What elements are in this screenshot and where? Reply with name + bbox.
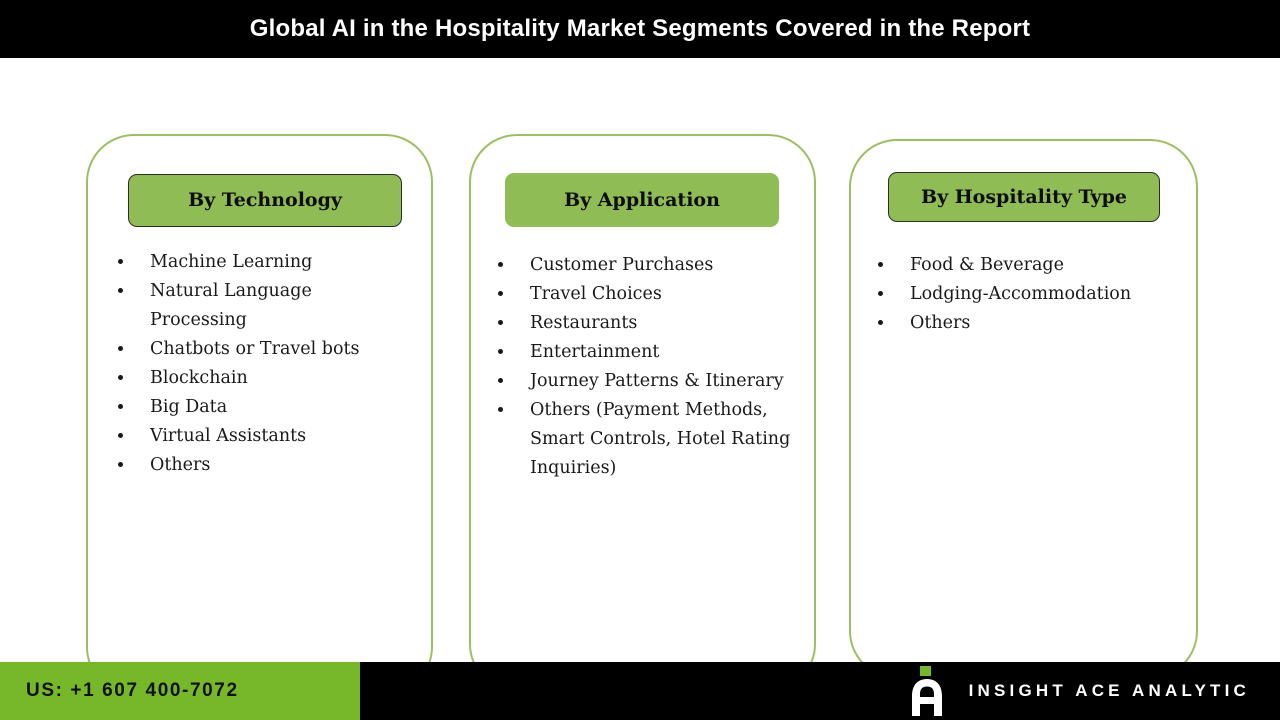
- list-item: Lodging-Accommodation: [872, 280, 1172, 309]
- bullet-dot-icon: [118, 462, 123, 467]
- list-item: Big Data: [112, 393, 412, 422]
- bullet-dot-icon: [118, 375, 123, 380]
- bullet-dot-icon: [498, 291, 503, 296]
- list-item: Others: [112, 451, 412, 480]
- segment-list-application: Customer Purchases Travel Choices Restau…: [492, 251, 792, 483]
- segment-list-hospitality-type: Food & Beverage Lodging-Accommodation Ot…: [872, 251, 1172, 338]
- list-item-label: Lodging-Accommodation: [910, 284, 1131, 304]
- list-item-label: Food & Beverage: [910, 255, 1064, 275]
- list-item: Virtual Assistants: [112, 422, 412, 451]
- list-item: Others: [872, 309, 1172, 338]
- list-item-label: Big Data: [150, 397, 227, 417]
- segment-list-technology: Machine Learning Natural Language Proces…: [112, 248, 412, 480]
- list-item-label: Others: [150, 455, 210, 475]
- list-item-label: Natural Language Processing: [150, 281, 312, 330]
- bullet-dot-icon: [118, 259, 123, 264]
- list-item: Entertainment: [492, 338, 792, 367]
- diagram-stage: By Technology Machine Learning Natural L…: [0, 58, 1280, 662]
- list-item-label: Chatbots or Travel bots: [150, 339, 360, 359]
- footer-phone: US: +1 607 400-7072: [26, 662, 239, 720]
- bullet-dot-icon: [878, 291, 883, 296]
- list-item: Customer Purchases: [492, 251, 792, 280]
- list-item: Others (Payment Methods, Smart Controls,…: [492, 396, 792, 483]
- page-title: Global AI in the Hospitality Market Segm…: [0, 0, 1280, 58]
- list-item-label: Entertainment: [530, 342, 659, 362]
- list-item: Food & Beverage: [872, 251, 1172, 280]
- list-item: Restaurants: [492, 309, 792, 338]
- list-item: Chatbots or Travel bots: [112, 335, 412, 364]
- bullet-dot-icon: [878, 320, 883, 325]
- list-item-label: Customer Purchases: [530, 255, 713, 275]
- brand-lockup: INSIGHT ACE ANALYTIC: [907, 662, 1250, 720]
- list-item: Machine Learning: [112, 248, 412, 277]
- list-item: Journey Patterns & Itinerary: [492, 367, 792, 396]
- segment-heading-technology: By Technology: [128, 174, 402, 227]
- bullet-dot-icon: [498, 378, 503, 383]
- bullet-dot-icon: [878, 262, 883, 267]
- bullet-dot-icon: [118, 346, 123, 351]
- list-item: Natural Language Processing: [112, 277, 412, 335]
- bullet-dot-icon: [118, 404, 123, 409]
- bullet-dot-icon: [498, 407, 503, 412]
- list-item-label: Machine Learning: [150, 252, 312, 272]
- list-item-label: Restaurants: [530, 313, 637, 333]
- list-item-label: Blockchain: [150, 368, 248, 388]
- segment-heading-application: By Application: [505, 173, 779, 227]
- list-item-label: Travel Choices: [530, 284, 662, 304]
- list-item: Travel Choices: [492, 280, 792, 309]
- list-item-label: Journey Patterns & Itinerary: [530, 371, 784, 391]
- bullet-dot-icon: [498, 262, 503, 267]
- title-bar: Global AI in the Hospitality Market Segm…: [0, 0, 1280, 58]
- segment-heading-hospitality-type: By Hospitality Type: [888, 172, 1160, 222]
- bullet-dot-icon: [498, 349, 503, 354]
- bullet-dot-icon: [118, 288, 123, 293]
- brand-name: INSIGHT ACE ANALYTIC: [969, 681, 1250, 701]
- list-item-label: Virtual Assistants: [150, 426, 306, 446]
- bullet-dot-icon: [118, 433, 123, 438]
- list-item: Blockchain: [112, 364, 412, 393]
- insightace-a-mark-icon: [907, 666, 947, 716]
- list-item-label: Others: [910, 313, 970, 333]
- bullet-dot-icon: [498, 320, 503, 325]
- list-item-label: Others (Payment Methods, Smart Controls,…: [530, 400, 790, 478]
